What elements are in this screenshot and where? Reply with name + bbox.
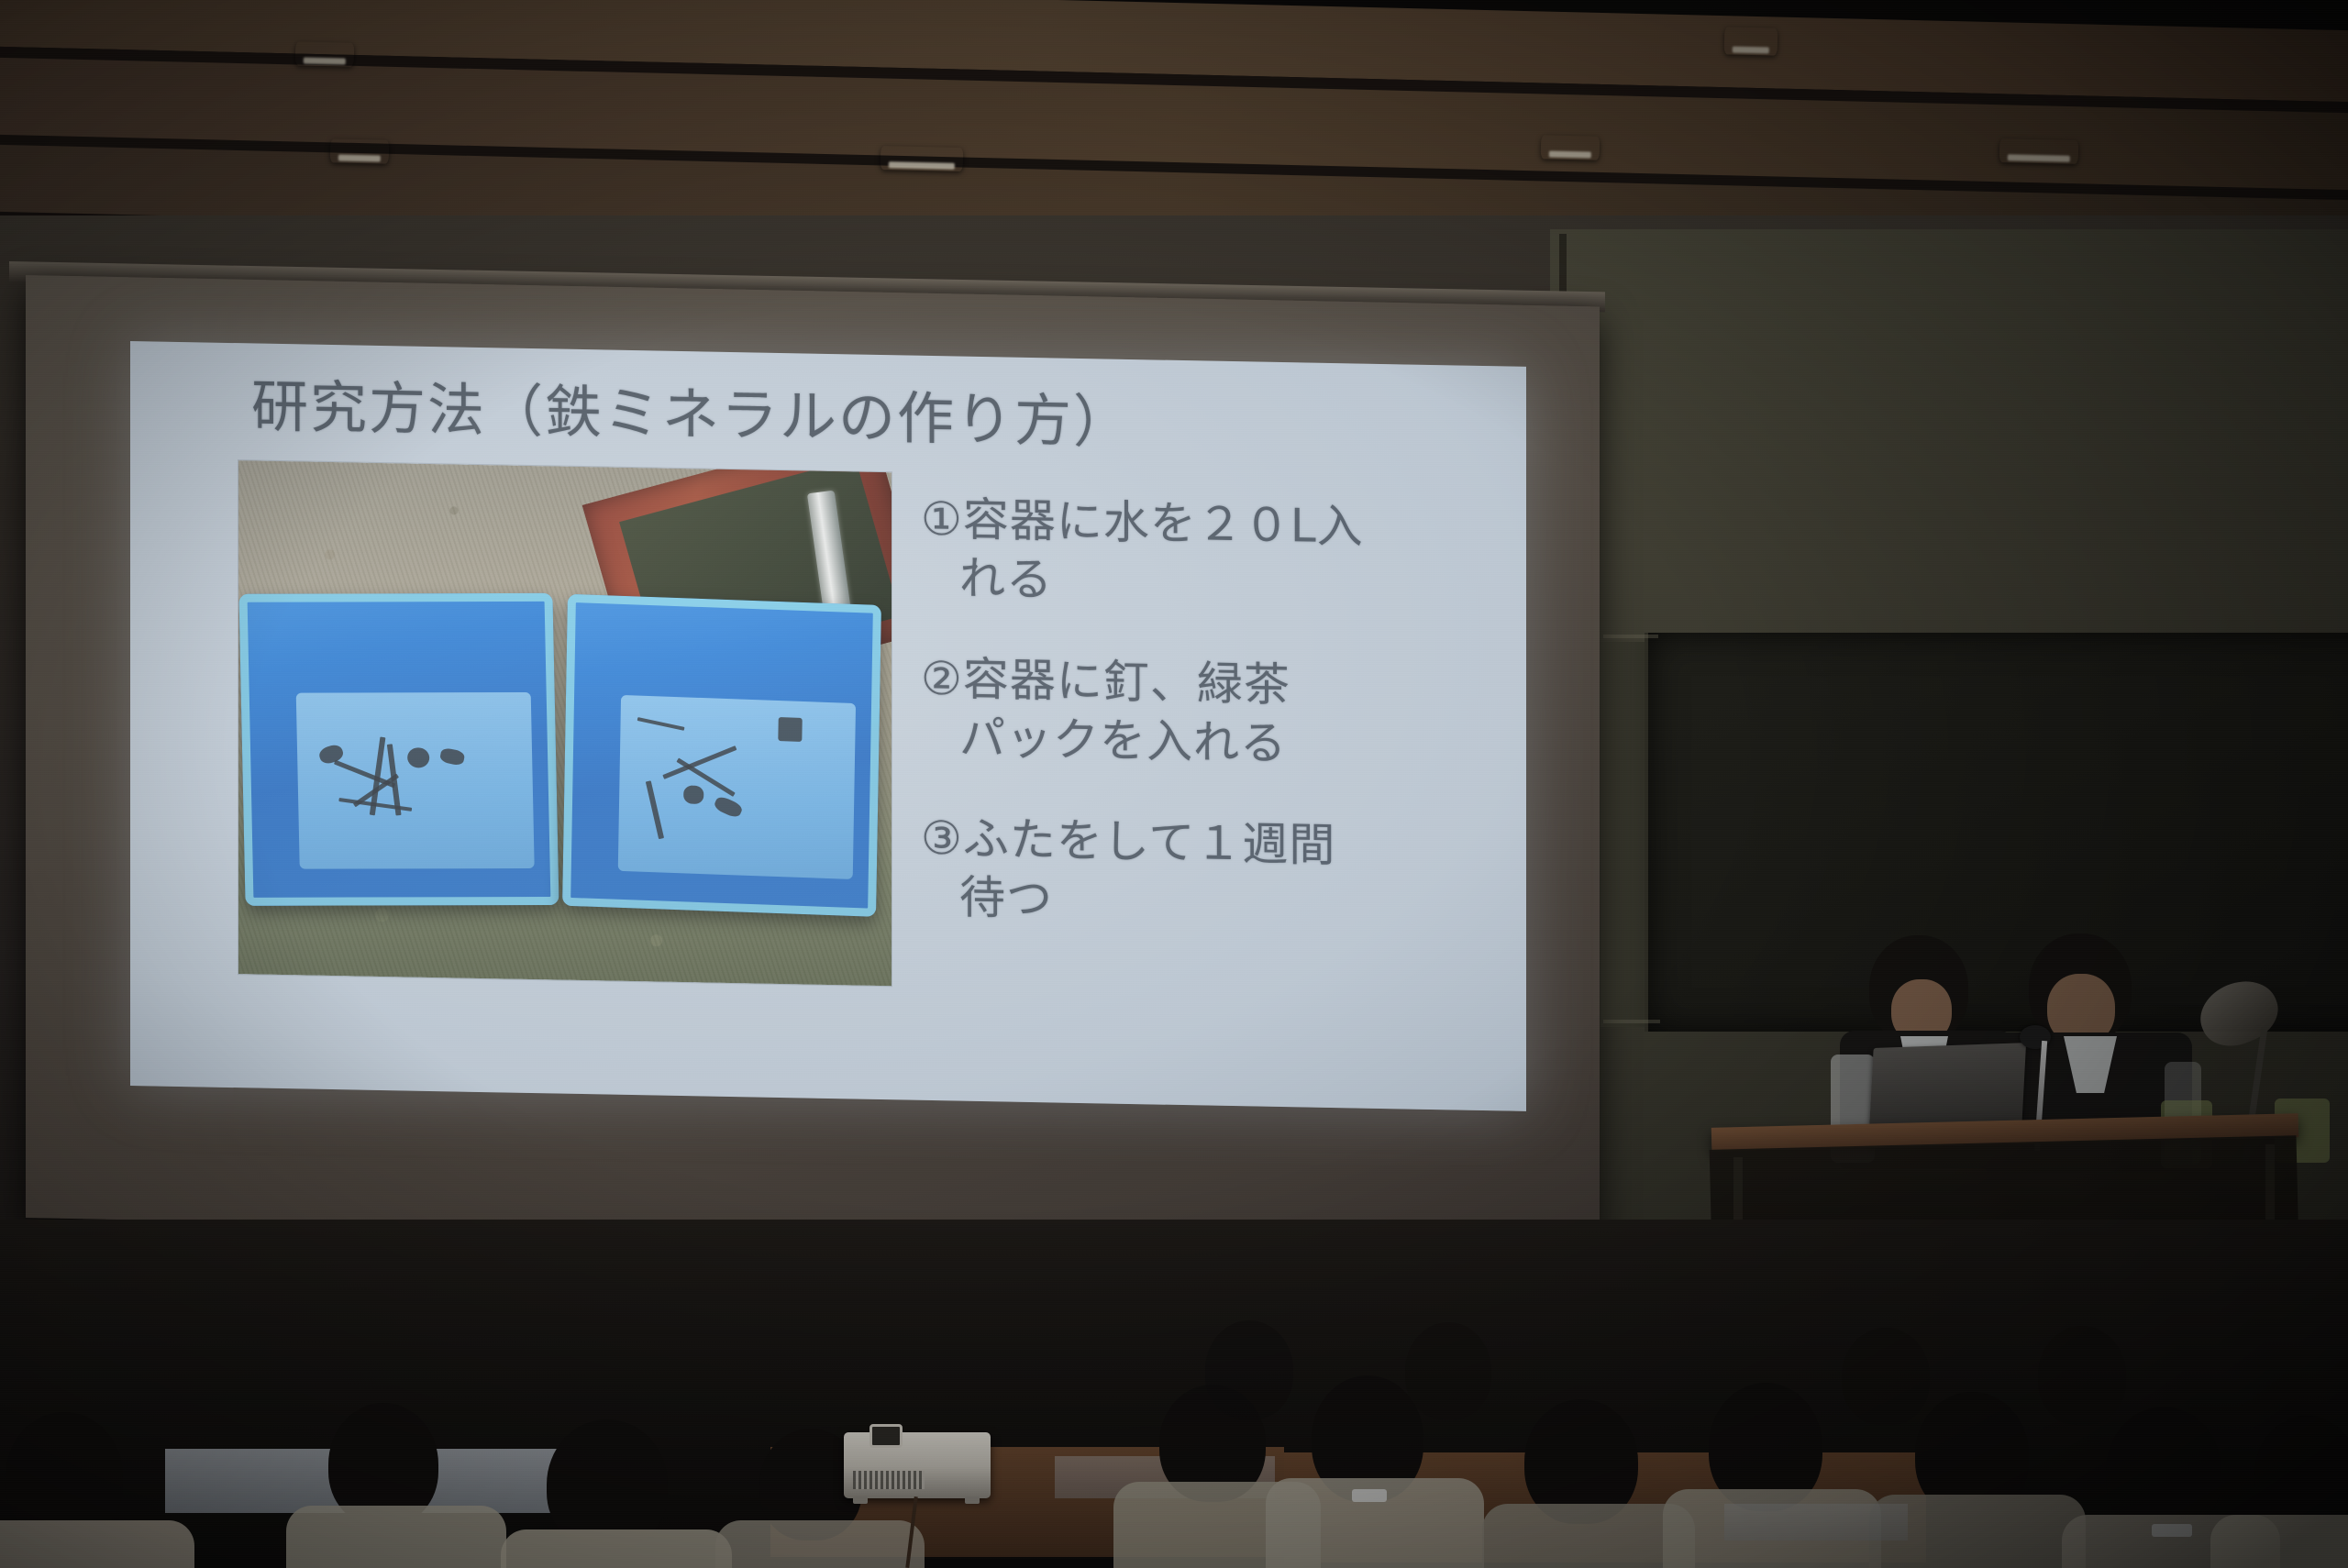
bullet-item-2: ②容器に釘、緑茶 パックを入れる xyxy=(921,649,1471,777)
bullet-line-1a: 容器に水を２０L入 xyxy=(963,493,1364,554)
audience-member xyxy=(303,1403,486,1568)
ceiling-light-icon xyxy=(330,138,390,163)
auditorium-photo: 研究方法（鉄ミネラルの作り方） xyxy=(0,0,2348,1568)
bullet-item-1: ①容器に水を２０L入 れる xyxy=(921,490,1471,617)
ceiling-light-icon xyxy=(1724,27,1778,55)
bullet-line-2a: 容器に釘、緑茶 xyxy=(963,653,1290,712)
photo-container-left xyxy=(238,593,559,906)
audience-member xyxy=(523,1419,715,1568)
ceiling-light-icon xyxy=(880,146,964,171)
projector-foot xyxy=(853,1496,868,1504)
audience-member xyxy=(1497,1399,1680,1568)
ceiling-light-icon xyxy=(1999,138,2079,164)
photo-container-right xyxy=(562,594,881,917)
bullet-marker-2: ② xyxy=(921,652,963,706)
chalkboard-edge xyxy=(1603,1020,1660,1023)
projected-slide: 研究方法（鉄ミネラルの作り方） xyxy=(130,341,1526,1111)
bullet-marker-1: ① xyxy=(921,492,963,547)
projector xyxy=(844,1432,991,1498)
slide-photo xyxy=(238,460,892,986)
bullet-line-2b: パックを入れる xyxy=(921,708,1471,777)
audience-member xyxy=(2238,1416,2348,1568)
audience-member xyxy=(1823,1328,1961,1447)
audience-area xyxy=(0,1220,2348,1568)
projector-vent xyxy=(853,1471,925,1489)
audience-member xyxy=(1387,1322,1524,1441)
bullet-marker-3: ③ xyxy=(921,812,963,866)
bullet-item-3: ③ふたをして１週間 待つ xyxy=(921,809,1471,936)
audience-table-surface xyxy=(1724,1504,1908,1540)
chalkboard-edge xyxy=(1603,635,1658,638)
ceiling-light-icon xyxy=(1541,135,1600,160)
ceiling xyxy=(0,0,2348,229)
projector-lens-icon xyxy=(869,1424,903,1448)
bullet-line-3a: ふたをして１週間 xyxy=(963,812,1336,872)
audience-member xyxy=(1183,1320,1321,1440)
photo-water-right xyxy=(618,695,856,879)
bullet-line-1b: れる xyxy=(921,548,1471,617)
projector-foot xyxy=(965,1496,980,1504)
slide-bullet-list: ①容器に水を２０L入 れる ②容器に釘、緑茶 パックを入れる ③ふたをして１週間… xyxy=(921,490,1471,978)
slide-title: 研究方法（鉄ミネラルの作り方） xyxy=(251,378,1132,451)
audience-member xyxy=(0,1412,183,1568)
bullet-line-3b: 待つ xyxy=(921,867,1471,936)
audience-member xyxy=(2018,1326,2155,1445)
photo-water-left xyxy=(296,692,535,869)
ceiling-light-icon xyxy=(295,41,355,66)
